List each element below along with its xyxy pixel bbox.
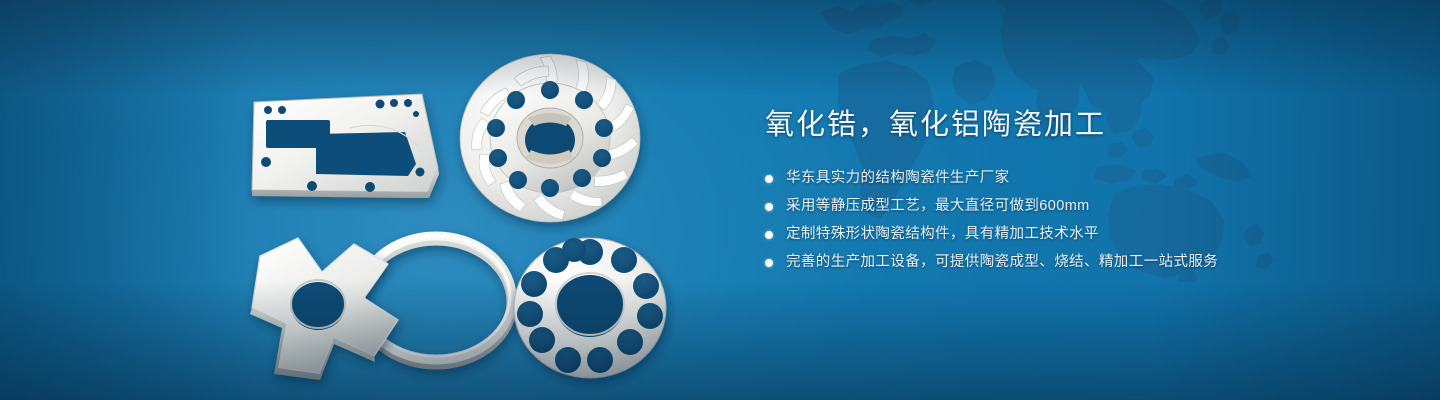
bullet-dot-icon: [765, 175, 773, 183]
bullet-text: 华东具实力的结构陶瓷件生产厂家: [786, 168, 1010, 189]
bullet-text: 完善的生产加工设备，可提供陶瓷成型、烧结、精加工一站式服务: [786, 252, 1218, 273]
list-item: 采用等静压成型工艺，最大直径可做到600mm: [765, 196, 1325, 217]
product-ceramic-perforated-disc: [514, 238, 666, 378]
list-item: 完善的生产加工设备，可提供陶瓷成型、烧结、精加工一站式服务: [765, 252, 1325, 273]
bullet-dot-icon: [765, 231, 773, 239]
ceramic-products-image: [230, 40, 680, 380]
bullet-text: 采用等静压成型工艺，最大直径可做到600mm: [786, 196, 1090, 217]
product-ceramic-plate: [252, 94, 439, 198]
list-item: 华东具实力的结构陶瓷件生产厂家: [765, 168, 1325, 189]
list-item: 定制特殊形状陶瓷结构件，具有精加工技术水平: [765, 224, 1325, 245]
bullet-text: 定制特殊形状陶瓷结构件，具有精加工技术水平: [786, 224, 1099, 245]
product-ceramic-impeller: [460, 54, 640, 222]
bullet-dot-icon: [765, 259, 773, 267]
product-ceramic-cross: [250, 238, 398, 380]
banner-headline: 氧化锆，氧化铝陶瓷加工: [765, 108, 1325, 142]
promo-banner: 氧化锆，氧化铝陶瓷加工 华东具实力的结构陶瓷件生产厂家 采用等静压成型工艺，最大…: [0, 0, 1440, 400]
banner-bullet-list: 华东具实力的结构陶瓷件生产厂家 采用等静压成型工艺，最大直径可做到600mm 定…: [765, 168, 1325, 273]
bullet-dot-icon: [765, 203, 773, 211]
banner-copy: 氧化锆，氧化铝陶瓷加工 华东具实力的结构陶瓷件生产厂家 采用等静压成型工艺，最大…: [765, 108, 1325, 273]
product-ceramic-ring: [360, 236, 512, 364]
